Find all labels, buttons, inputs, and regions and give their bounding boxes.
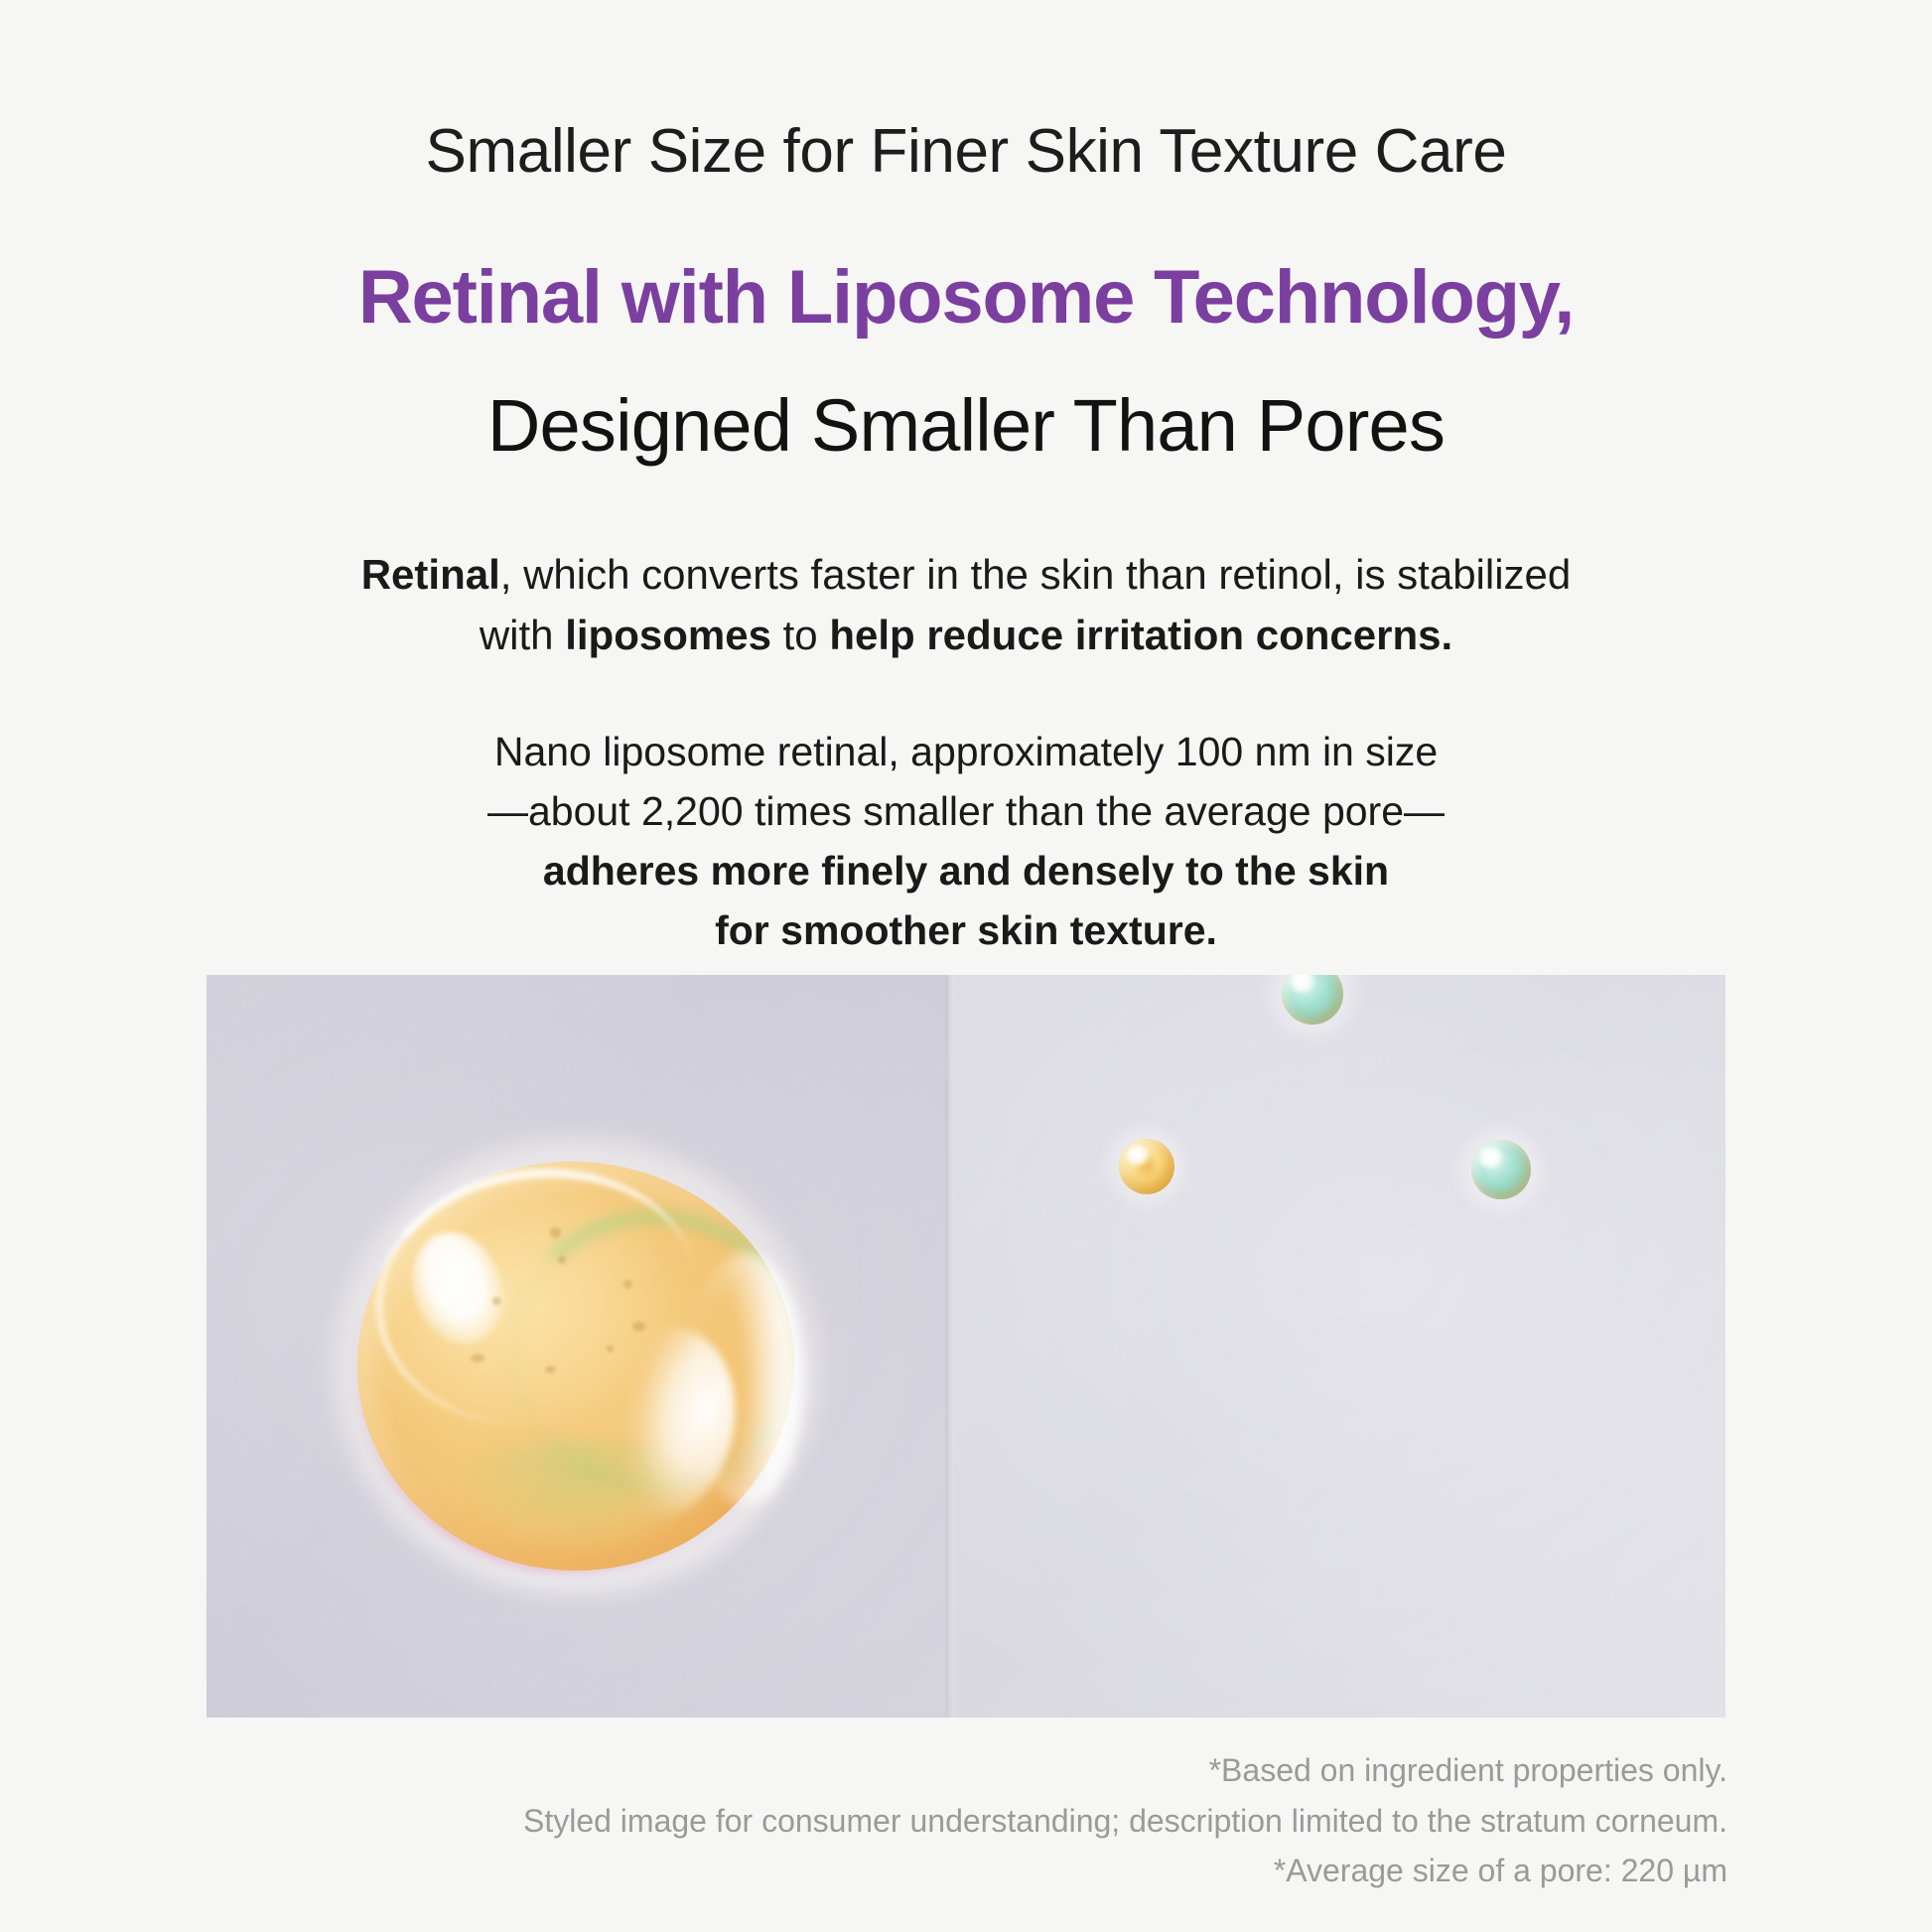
droplet-body <box>1471 1140 1531 1199</box>
description-paragraph-1: Retinal, which converts faster in the sk… <box>248 544 1684 666</box>
mint-droplet-bottom-right <box>1471 1140 1531 1199</box>
bold-help-reduce-irritation: help reduce irritation concerns. <box>829 612 1452 658</box>
paragraph-2-line-3: adheres more finely and densely to the s… <box>248 842 1684 901</box>
bold-liposomes: liposomes <box>565 612 771 658</box>
p1l2-part1: with <box>480 612 565 658</box>
paragraph-2-line-2: —about 2,200 times smaller than the aver… <box>248 782 1684 842</box>
paragraph-1-line-1: Retinal, which converts faster in the sk… <box>248 544 1684 605</box>
paragraph-1-line-2: with liposomes to help reduce irritation… <box>248 605 1684 665</box>
comparison-image-panel <box>207 975 1725 1718</box>
description-paragraph-2: Nano liposome retinal, approximately 100… <box>248 723 1684 960</box>
large-oil-droplet <box>357 1162 794 1571</box>
paragraph-2-line-4: for smoother skin texture. <box>248 901 1684 961</box>
footnote-block: *Based on ingredient properties only. St… <box>199 1745 1727 1896</box>
texture-grain-right <box>949 975 1725 1718</box>
droplet-highlight <box>1127 1146 1149 1166</box>
eyebrow-heading: Smaller Size for Finer Skin Texture Care <box>0 117 1932 186</box>
droplet-speck <box>471 1354 484 1362</box>
droplet-speck <box>550 1227 561 1238</box>
headline-secondary: Designed Smaller Than Pores <box>0 385 1932 466</box>
bold-retinal: Retinal <box>361 551 500 598</box>
headline-primary: Retinal with Liposome Technology, <box>0 256 1932 340</box>
paragraph-1-line-1-rest: , which converts faster in the skin than… <box>500 551 1572 598</box>
footnote-line-1: *Based on ingredient properties only. <box>199 1745 1727 1796</box>
panel-left-half <box>207 975 949 1718</box>
footnote-line-3: *Average size of a pore: 220 µm <box>199 1846 1727 1896</box>
mint-droplet-top-right <box>1282 975 1343 1025</box>
p1l2-part2: to <box>771 612 829 658</box>
paragraph-2-line-1: Nano liposome retinal, approximately 100… <box>248 723 1684 782</box>
gold-droplet-center <box>1119 1139 1174 1194</box>
droplet-speck <box>632 1321 645 1331</box>
droplet-highlight <box>1479 1147 1503 1169</box>
product-detail-page: Smaller Size for Finer Skin Texture Care… <box>0 0 1932 1932</box>
panel-right-half <box>949 975 1725 1718</box>
footnote-line-2: Styled image for consumer understanding;… <box>199 1796 1727 1847</box>
